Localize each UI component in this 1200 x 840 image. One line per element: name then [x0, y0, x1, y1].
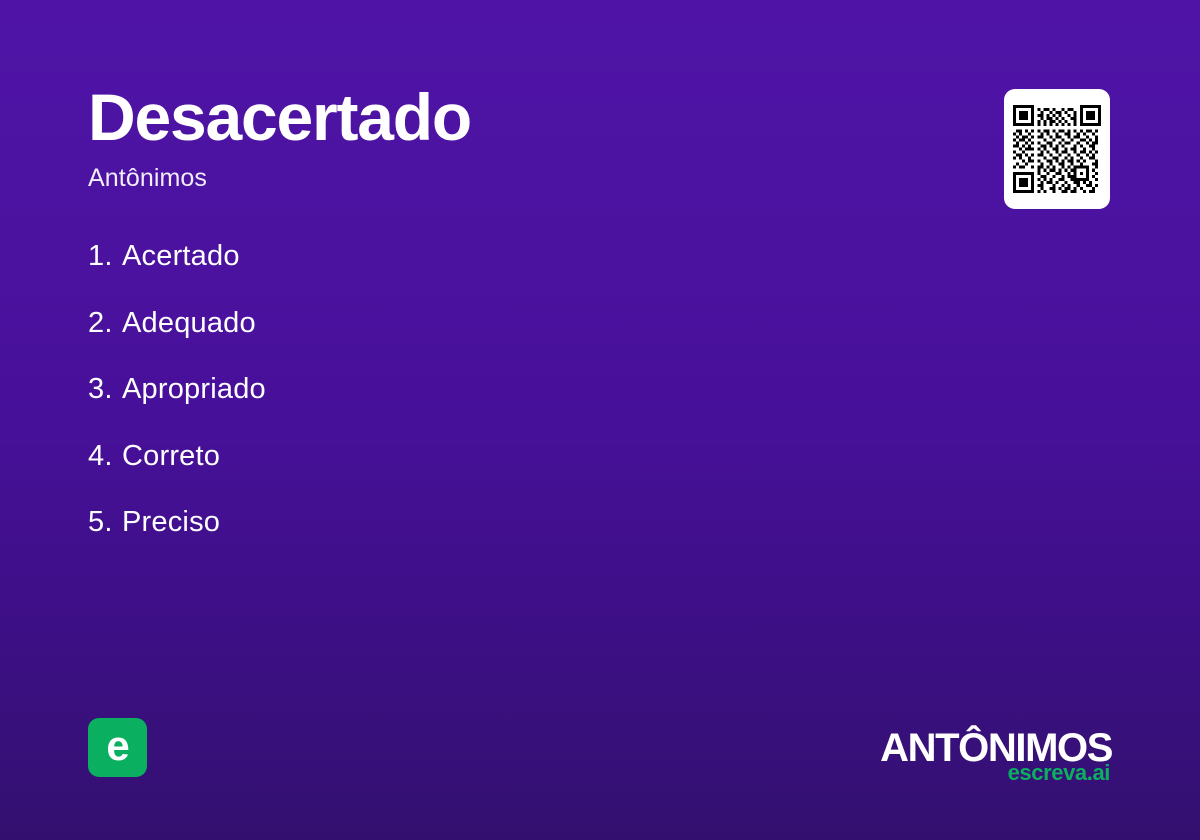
- list-item: 4.Correto: [88, 437, 788, 504]
- logo-letter: e: [106, 725, 128, 767]
- list-item: 1.Acertado: [88, 237, 788, 304]
- qr-code-card[interactable]: [1004, 89, 1110, 209]
- list-item-label: Apropriado: [122, 373, 266, 405]
- list-item-label: Preciso: [122, 506, 220, 538]
- page-subtitle: Antônimos: [88, 164, 788, 193]
- qr-code-icon: [1013, 105, 1101, 193]
- list-item: 5.Preciso: [88, 503, 788, 570]
- brand-lockup: ANTÔNIMOS escreva.ai: [880, 728, 1112, 784]
- card-header: Desacertado Antônimos: [88, 84, 788, 193]
- antonyms-card: Desacertado Antônimos 1.Acertado 2.Adequ…: [0, 0, 1200, 840]
- list-item-label: Correto: [122, 440, 220, 472]
- list-item-label: Acertado: [122, 240, 240, 272]
- list-item: 3.Apropriado: [88, 370, 788, 437]
- list-item-number: 1.: [88, 237, 122, 275]
- antonyms-list: 1.Acertado 2.Adequado 3.Apropriado 4.Cor…: [88, 237, 788, 570]
- list-item-label: Adequado: [122, 307, 256, 339]
- escreva-e-logo-icon[interactable]: e: [88, 718, 147, 777]
- list-item-number: 4.: [88, 437, 122, 475]
- page-title: Desacertado: [88, 84, 788, 150]
- list-item-number: 3.: [88, 370, 122, 408]
- list-item-number: 5.: [88, 503, 122, 541]
- list-item-number: 2.: [88, 304, 122, 342]
- list-item: 2.Adequado: [88, 304, 788, 371]
